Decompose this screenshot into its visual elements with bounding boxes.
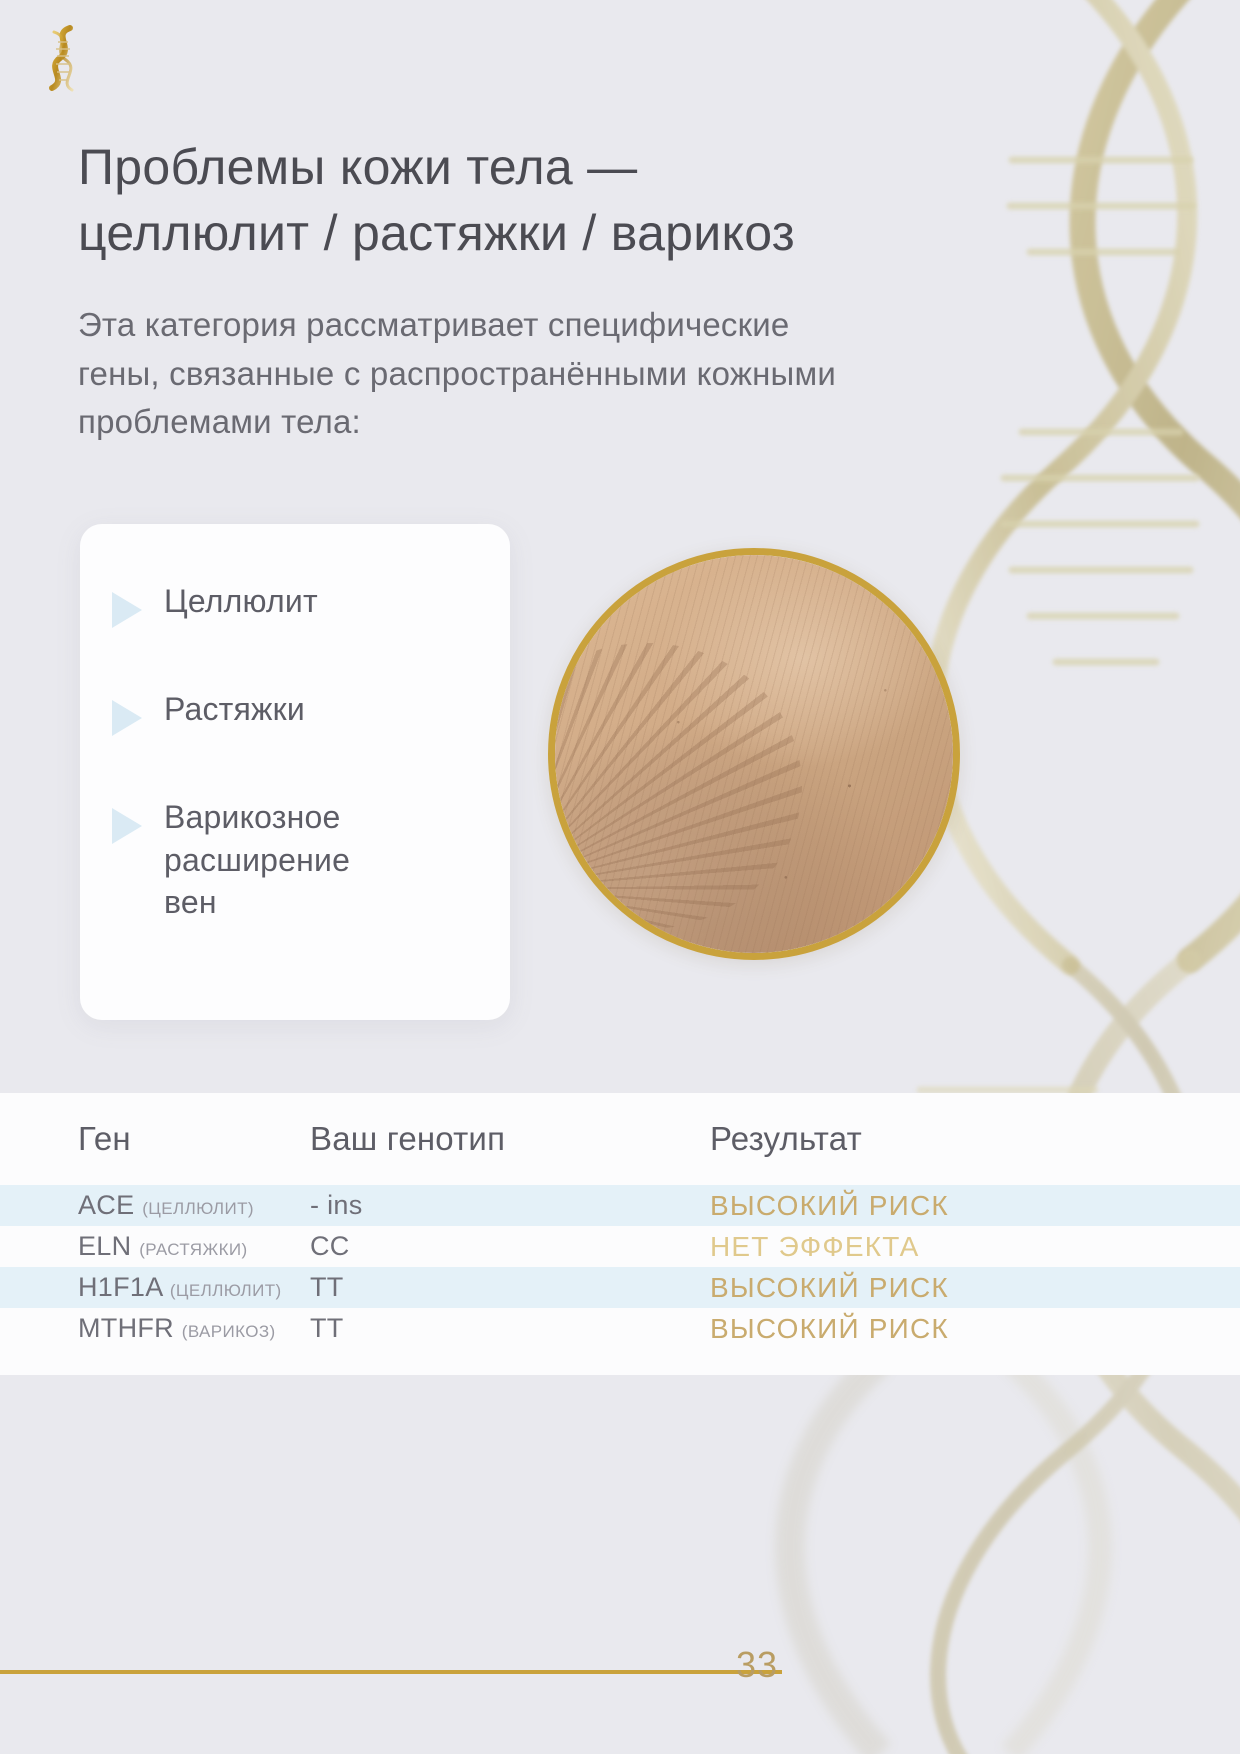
- page-title: Проблемы кожи тела — целлюлит / растяжки…: [78, 134, 958, 266]
- cell-gene: MTHFR (ВАРИКОЗ): [0, 1313, 310, 1344]
- gene-results-table: Ген Ваш генотип Результат ACE (ЦЕЛЛЮЛИТ)…: [0, 1093, 1240, 1375]
- dna-helix-logo: [30, 22, 96, 94]
- cell-gene: H1F1A (ЦЕЛЛЮЛИТ): [0, 1272, 310, 1303]
- gene-tag: (ЦЕЛЛЮЛИТ): [142, 1199, 254, 1218]
- conditions-card: Целлюлит Растяжки Варикозное расширение …: [80, 524, 510, 1020]
- cell-genotype: TT: [310, 1272, 710, 1303]
- gene-name: H1F1A: [78, 1272, 162, 1302]
- column-header-genotype: Ваш генотип: [310, 1120, 710, 1158]
- intro-paragraph: Эта категория рассматривает специфически…: [78, 301, 838, 447]
- cell-result: ВЫСОКИЙ РИСК: [710, 1272, 1240, 1304]
- gene-tag: (ВАРИКОЗ): [182, 1322, 276, 1341]
- gene-tag: (ЦЕЛЛЮЛИТ): [170, 1281, 282, 1300]
- list-item: Растяжки: [102, 688, 492, 736]
- cell-genotype: CC: [310, 1231, 710, 1262]
- cellulite-skin-photo: [548, 548, 960, 960]
- cell-genotype: - ins: [310, 1190, 710, 1221]
- gene-name: ACE: [78, 1190, 134, 1220]
- cell-gene: ACE (ЦЕЛЛЮЛИТ): [0, 1190, 310, 1221]
- skin-specks: [555, 555, 953, 953]
- table-header-row: Ген Ваш генотип Результат: [0, 1093, 1240, 1185]
- table-row: ELN (РАСТЯЖКИ) CC НЕТ ЭФФЕКТА: [0, 1226, 1240, 1267]
- cell-gene: ELN (РАСТЯЖКИ): [0, 1231, 310, 1262]
- cell-result: ВЫСОКИЙ РИСК: [710, 1190, 1240, 1222]
- table-row: H1F1A (ЦЕЛЛЮЛИТ) TT ВЫСОКИЙ РИСК: [0, 1267, 1240, 1308]
- table-row: MTHFR (ВАРИКОЗ) TT ВЫСОКИЙ РИСК: [0, 1308, 1240, 1349]
- triangle-bullet-icon: [112, 700, 142, 736]
- table-row: ACE (ЦЕЛЛЮЛИТ) - ins ВЫСОКИЙ РИСК: [0, 1185, 1240, 1226]
- cell-result: ВЫСОКИЙ РИСК: [710, 1313, 1240, 1345]
- gene-tag: (РАСТЯЖКИ): [139, 1240, 247, 1259]
- gene-name: ELN: [78, 1231, 131, 1261]
- list-item-label: Варикозное расширение вен: [164, 796, 350, 924]
- cell-genotype: TT: [310, 1313, 710, 1344]
- list-item: Варикозное расширение вен: [102, 796, 492, 924]
- list-item: Целлюлит: [102, 580, 492, 628]
- list-item-label: Растяжки: [164, 688, 305, 731]
- footer-rule: [0, 1670, 782, 1674]
- conditions-list: Целлюлит Растяжки Варикозное расширение …: [102, 580, 492, 924]
- cell-result: НЕТ ЭФФЕКТА: [710, 1231, 1240, 1263]
- triangle-bullet-icon: [112, 808, 142, 844]
- table-surface: Ген Ваш генотип Результат ACE (ЦЕЛЛЮЛИТ)…: [0, 1093, 1240, 1375]
- triangle-bullet-icon: [112, 592, 142, 628]
- page-number: 33: [736, 1644, 778, 1686]
- column-header-result: Результат: [710, 1120, 1240, 1158]
- gene-name: MTHFR: [78, 1313, 174, 1343]
- table-bottom-spacer: [0, 1349, 1240, 1375]
- page-title-line-1: Проблемы кожи тела —: [78, 139, 637, 195]
- column-header-gene: Ген: [0, 1120, 310, 1158]
- page-title-line-2: целлюлит / растяжки / варикоз: [78, 205, 795, 261]
- list-item-label: Целлюлит: [164, 580, 318, 623]
